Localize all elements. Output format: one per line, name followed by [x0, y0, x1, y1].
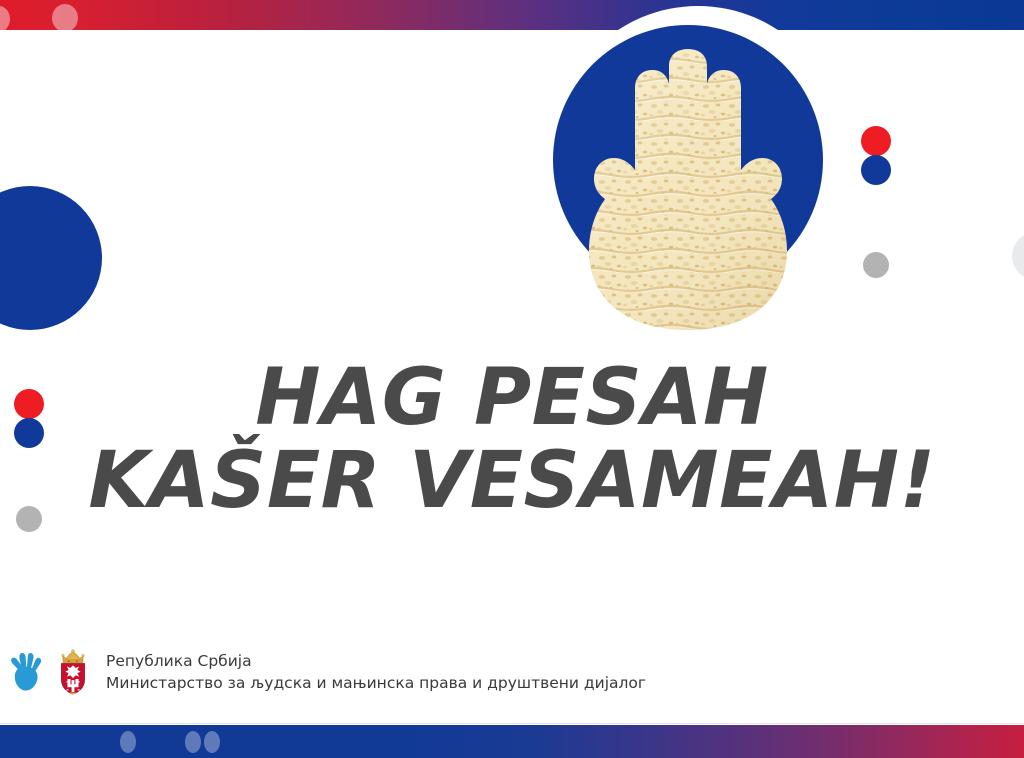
right-red-dot — [861, 126, 891, 156]
poster-canvas: HAG PESAH KAŠER VESAMEAH! — [0, 0, 1024, 758]
bottom-bar-dot — [185, 731, 201, 753]
bottom-bar-dot — [120, 731, 136, 753]
right-blue-dot — [861, 155, 891, 185]
top-bar-dot — [52, 4, 78, 30]
headline-line-2: KAŠER VESAMEAH! — [0, 441, 1024, 522]
blue-hand-logo-icon — [10, 652, 44, 692]
decorative-edge-circle-right — [1012, 232, 1024, 280]
top-gradient-bar — [0, 0, 1024, 30]
footer-text: Република Србија Министарство за људска … — [106, 650, 646, 695]
bottom-bar-dot — [204, 731, 220, 753]
headline-line-1: HAG PESAH — [0, 358, 1024, 439]
hamsa-icon — [571, 45, 805, 335]
footer-line-1: Република Србија — [106, 650, 646, 672]
footer-line-2: Министарство за људска и мањинска права … — [106, 672, 646, 694]
serbia-coat-of-arms-icon — [56, 649, 90, 695]
headline: HAG PESAH KAŠER VESAMEAH! — [0, 358, 1024, 522]
right-grey-dot — [863, 252, 889, 278]
footer: Република Србија Министарство за људска … — [0, 641, 1024, 703]
footer-divider — [0, 723, 1024, 724]
decorative-large-blue-circle — [0, 186, 102, 330]
hamsa-matzo-emblem — [553, 25, 823, 295]
bottom-gradient-bar — [0, 725, 1024, 758]
top-bar-dot — [0, 6, 10, 30]
